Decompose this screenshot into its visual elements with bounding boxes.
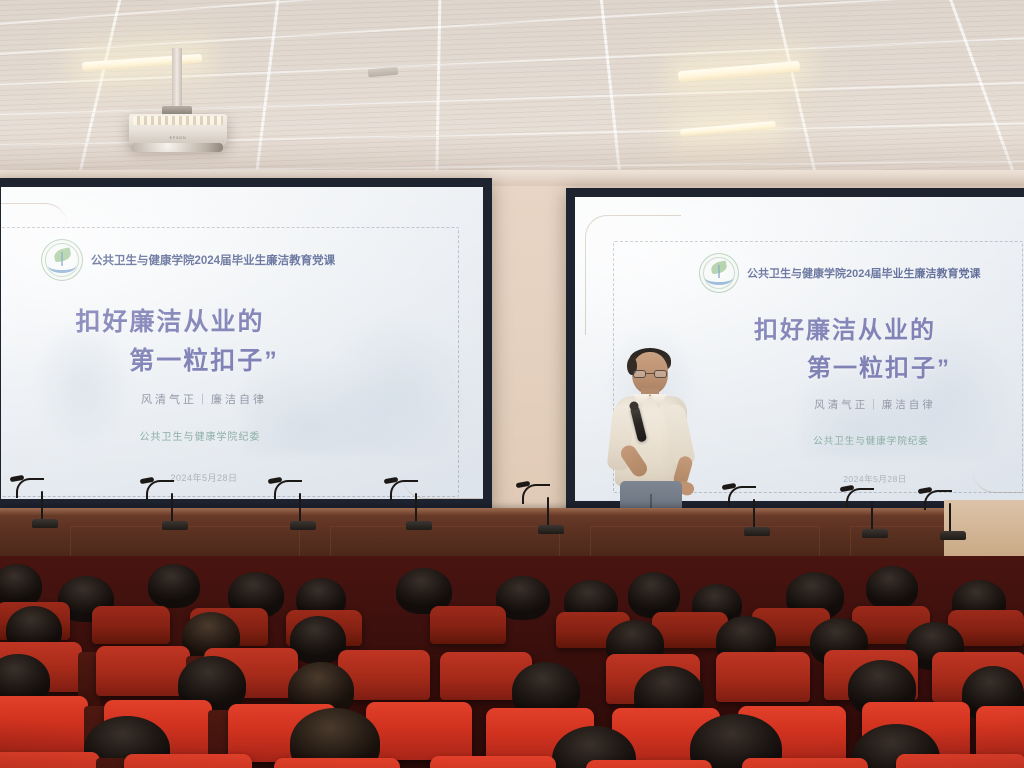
auditorium-seat[interactable] — [92, 606, 170, 644]
auditorium-seat[interactable] — [716, 652, 810, 702]
presenter — [596, 348, 706, 534]
auditorium-seat[interactable] — [430, 606, 506, 644]
audience-head — [866, 566, 918, 610]
auditorium-seat[interactable] — [742, 758, 868, 768]
slide-title-line1: 扣好廉洁从业的 — [619, 312, 1024, 349]
auditorium-seat[interactable] — [430, 756, 556, 768]
slide-subtitle: 风清气正｜廉洁自律 — [1, 391, 445, 407]
slide-title-line2: 第一粒扣子” — [1, 342, 445, 381]
gooseneck-microphone — [940, 480, 970, 540]
lecture-hall-photo: EPSON 公共卫生与健康学院2024届毕业生廉洁教育党课 扣好廉洁从业的 — [0, 0, 1024, 768]
auditorium-seat[interactable] — [96, 646, 190, 696]
audience-seating — [0, 556, 1024, 768]
slide-organization: 公共卫生与健康学院纪委 — [1, 428, 441, 443]
gooseneck-microphone — [538, 474, 568, 534]
slide-header-text: 公共卫生与健康学院2024届毕业生廉洁教育党课 — [91, 252, 335, 268]
auditorium-seat[interactable] — [586, 760, 712, 768]
slide-header-text: 公共卫生与健康学院2024届毕业生廉洁教育党课 — [747, 265, 980, 281]
gooseneck-microphone — [862, 478, 892, 538]
emblem-swoosh-icon — [48, 258, 77, 272]
audience-head — [148, 564, 200, 608]
slide-date: 2024年5月28日 — [1, 471, 445, 484]
gooseneck-microphone — [290, 470, 320, 530]
gooseneck-microphone — [406, 470, 436, 530]
gooseneck-microphone — [744, 476, 774, 536]
left-screen[interactable]: 公共卫生与健康学院2024届毕业生廉洁教育党课 扣好廉洁从业的 第一粒扣子” 风… — [0, 178, 492, 508]
slide-title-line1: 扣好廉洁从业的 — [1, 303, 411, 342]
auditorium-seat[interactable] — [896, 754, 1024, 768]
projector-mount-rod — [172, 48, 182, 110]
auditorium-seat[interactable] — [0, 752, 100, 768]
gooseneck-microphone — [32, 468, 62, 528]
left-slide-surface: 公共卫生与健康学院2024届毕业生廉洁教育党课 扣好廉洁从业的 第一粒扣子” 风… — [1, 187, 483, 499]
slide-header: 公共卫生与健康学院2024届毕业生廉洁教育党课 — [699, 253, 980, 293]
school-emblem-icon — [699, 253, 739, 293]
gooseneck-microphone — [162, 470, 192, 530]
slide-title-line2: 第一粒扣子” — [653, 350, 1024, 387]
slide-header: 公共卫生与健康学院2024届毕业生廉洁教育党课 — [41, 239, 335, 281]
school-emblem-icon — [41, 239, 83, 281]
ceiling: EPSON — [0, 0, 1024, 190]
eyeglasses-icon — [633, 370, 667, 378]
auditorium-seat[interactable] — [124, 754, 252, 768]
auditorium-seat[interactable] — [366, 702, 472, 760]
auditorium-seat[interactable] — [0, 696, 88, 754]
projector-vents — [133, 116, 223, 125]
emblem-swoosh-icon — [705, 271, 732, 285]
auditorium-seat[interactable] — [274, 758, 400, 768]
